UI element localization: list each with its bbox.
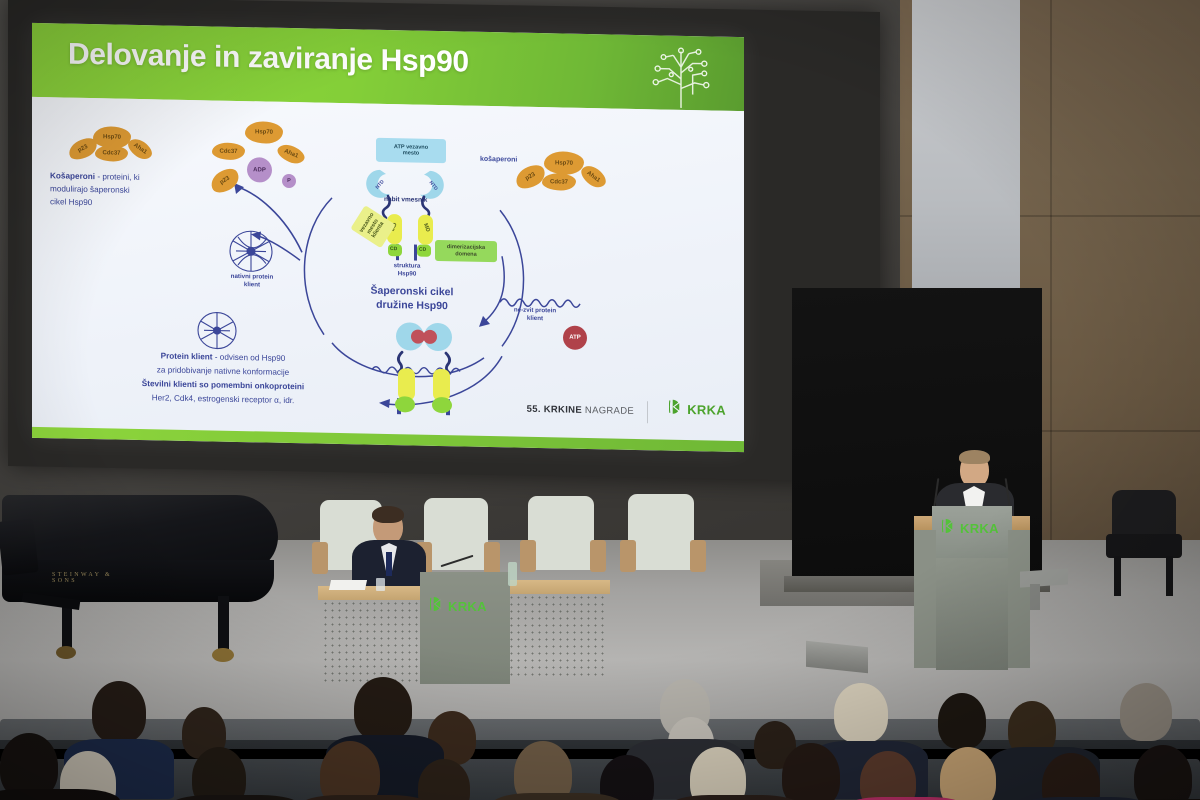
desk-krka-text: KRKA xyxy=(448,599,487,614)
chaperone-label-cdc37: Cdc37 xyxy=(102,150,120,156)
lectern-krka-logo: KRKA xyxy=(942,518,999,539)
audience-head xyxy=(834,683,888,743)
slide-header-bar: Delovanje in zaviranje Hsp90 xyxy=(32,23,744,111)
cochaperones-bold: Košaperoni xyxy=(50,171,95,181)
hair xyxy=(959,450,990,464)
lectern-wing-left xyxy=(914,516,934,530)
atp-label: ATP xyxy=(569,335,581,341)
client-protein-line4: Her2, Cdk4, estrogenski receptor α, idr. xyxy=(152,393,295,405)
native-line2: klient xyxy=(212,280,292,290)
audience-head xyxy=(354,677,412,741)
audience-head xyxy=(1134,745,1192,800)
desk-top-right xyxy=(506,580,610,594)
audience xyxy=(0,655,1200,800)
right-blob-hsp70: Hsp70 xyxy=(544,151,584,175)
audience-shoulders xyxy=(492,793,622,800)
chaperone-label-p23: p23 xyxy=(219,175,231,186)
chaperone-label-cdc37: Cdc37 xyxy=(219,148,237,154)
bottom-cd-right xyxy=(432,397,452,413)
water-glass xyxy=(376,578,385,591)
phosphate-circle: P xyxy=(282,174,296,188)
lectern-side-right xyxy=(1008,530,1030,668)
cycle-title: Šaperonski cikel družine Hsp90 xyxy=(352,283,472,313)
piano-brand: STEINWAY & SONS xyxy=(52,572,138,580)
dimerization-domain-tag: dimerizacijska domena xyxy=(435,240,497,262)
audience-head xyxy=(782,743,840,800)
right-blob-cdc37: Cdc37 xyxy=(542,173,576,191)
audience-head xyxy=(940,747,996,800)
chaperone-label-aha1: Aha1 xyxy=(283,148,299,159)
cochaperones-text-block: Košaperoni - proteini, ki modulirajo šap… xyxy=(50,169,210,211)
bottom-cd-left xyxy=(395,396,415,412)
armchair xyxy=(1106,490,1182,600)
conference-hall-photo: KRKA KRKA KRKA xyxy=(0,0,1200,800)
structure-line2: Hsp90 xyxy=(372,270,442,279)
client-protein-text-block: Protein klient - odvisen od Hsp90 za pri… xyxy=(88,348,358,409)
chaperone-label-cdc37: Cdc37 xyxy=(550,179,568,185)
krka-mark-icon xyxy=(942,518,956,539)
slide-footer-event: 55. KRKINE NAGRADE xyxy=(527,404,634,417)
krka-mark-icon xyxy=(430,596,444,617)
audience-head xyxy=(92,681,146,743)
domain-label-cd-left: CD xyxy=(390,246,397,252)
audience-head xyxy=(1120,683,1172,741)
native-protein-caption: nativni protein klient xyxy=(212,272,292,290)
adp-label: ADP xyxy=(253,167,266,173)
hair xyxy=(372,506,404,523)
presentation-slide: Delovanje in zaviranje Hsp90 xyxy=(32,23,744,452)
water-bottle xyxy=(508,562,517,586)
lectern-column xyxy=(936,558,1008,670)
unfolded-client-caption: ne-zvit protein klient xyxy=(494,306,576,324)
client-protein-line3: Številni klienti so pomembni onkoprotein… xyxy=(142,379,304,391)
audience-head xyxy=(514,741,572,800)
cochaperones-right-label: košaperoni xyxy=(480,156,517,164)
slide-body: NTD NTD MD MD CD CD ATP vezavno mesto na… xyxy=(32,97,744,441)
audience-head xyxy=(192,747,246,800)
lectern-krka-text: KRKA xyxy=(960,521,999,536)
desk-papers xyxy=(329,580,367,590)
footer-event-suffix: NAGRADE xyxy=(585,405,634,417)
slide-footer-krka-logo: KRKA xyxy=(669,399,726,421)
wood-wall-seam xyxy=(1050,0,1052,560)
audience-head xyxy=(320,741,380,800)
adp-circle: ADP xyxy=(247,157,272,183)
native-blob-cdc37: Cdc37 xyxy=(212,142,245,160)
audience-shoulders xyxy=(0,789,120,800)
cochaperones-line2: modulirajo šaperonski xyxy=(50,184,130,195)
desk-krka-logo: KRKA xyxy=(430,596,487,617)
cochaperones-line3: cikel Hsp90 xyxy=(50,197,92,207)
audience-shoulders xyxy=(300,795,430,800)
slide-title: Delovanje in zaviranje Hsp90 xyxy=(68,38,469,80)
cycle-title-line1: Šaperonski cikel xyxy=(352,283,472,299)
chaperone-label-aha1: Aha1 xyxy=(586,170,601,184)
atp-site-line2: mesto xyxy=(403,150,419,157)
chaperone-label-hsp70: Hsp70 xyxy=(255,129,273,135)
lectern-side-left xyxy=(914,530,936,668)
krka-mark-icon xyxy=(669,399,683,420)
p-label: P xyxy=(287,178,291,184)
audience-shoulders xyxy=(170,795,300,800)
lectern-wing-right xyxy=(1010,516,1030,530)
unfolded-line2: klient xyxy=(494,314,576,324)
footer-event-bold: KRKINE xyxy=(544,404,582,416)
chaperone-label-p23: p23 xyxy=(525,172,537,182)
necktie xyxy=(386,552,392,576)
stage-bench-leg xyxy=(1030,584,1040,610)
audience-shoulders xyxy=(670,795,800,800)
chaperone-label-hsp70: Hsp70 xyxy=(103,134,121,140)
chaperone-blob-cdc37: Cdc37 xyxy=(95,145,128,162)
client-protein-rest: - odvisen od Hsp90 xyxy=(213,352,286,362)
client-protein-bold: Protein klient xyxy=(161,351,213,361)
circuit-tree-icon xyxy=(642,39,720,111)
krka-banner xyxy=(912,0,1020,330)
cycle-title-line2: družine Hsp90 xyxy=(352,297,472,313)
footer-krka-text: KRKA xyxy=(687,402,726,418)
stage-bench xyxy=(1020,568,1068,587)
footer-event-prefix: 55. xyxy=(527,404,541,415)
charged-linker-label: nabit vmesnik xyxy=(384,196,427,204)
dimerization-line2: domena xyxy=(455,251,476,258)
atp-binding-site-tag: ATP vezavno mesto xyxy=(376,138,446,163)
chaperone-label-aha1: Aha1 xyxy=(132,142,148,155)
structure-hsp90-caption: struktura Hsp90 xyxy=(372,262,442,279)
cochaperones-rest: - proteini, ki xyxy=(95,172,140,182)
atp-circle: ATP xyxy=(563,326,587,350)
chaperone-label-p23: p23 xyxy=(77,144,89,154)
native-blob-hsp70: Hsp70 xyxy=(245,121,283,144)
footer-divider xyxy=(647,401,648,423)
audience-head xyxy=(938,693,986,749)
chaperone-label-hsp70: Hsp70 xyxy=(555,160,573,166)
domain-label-cd-right: CD xyxy=(419,247,426,253)
client-protein-line2: za pridobivanje nativne konformacije xyxy=(157,365,289,377)
